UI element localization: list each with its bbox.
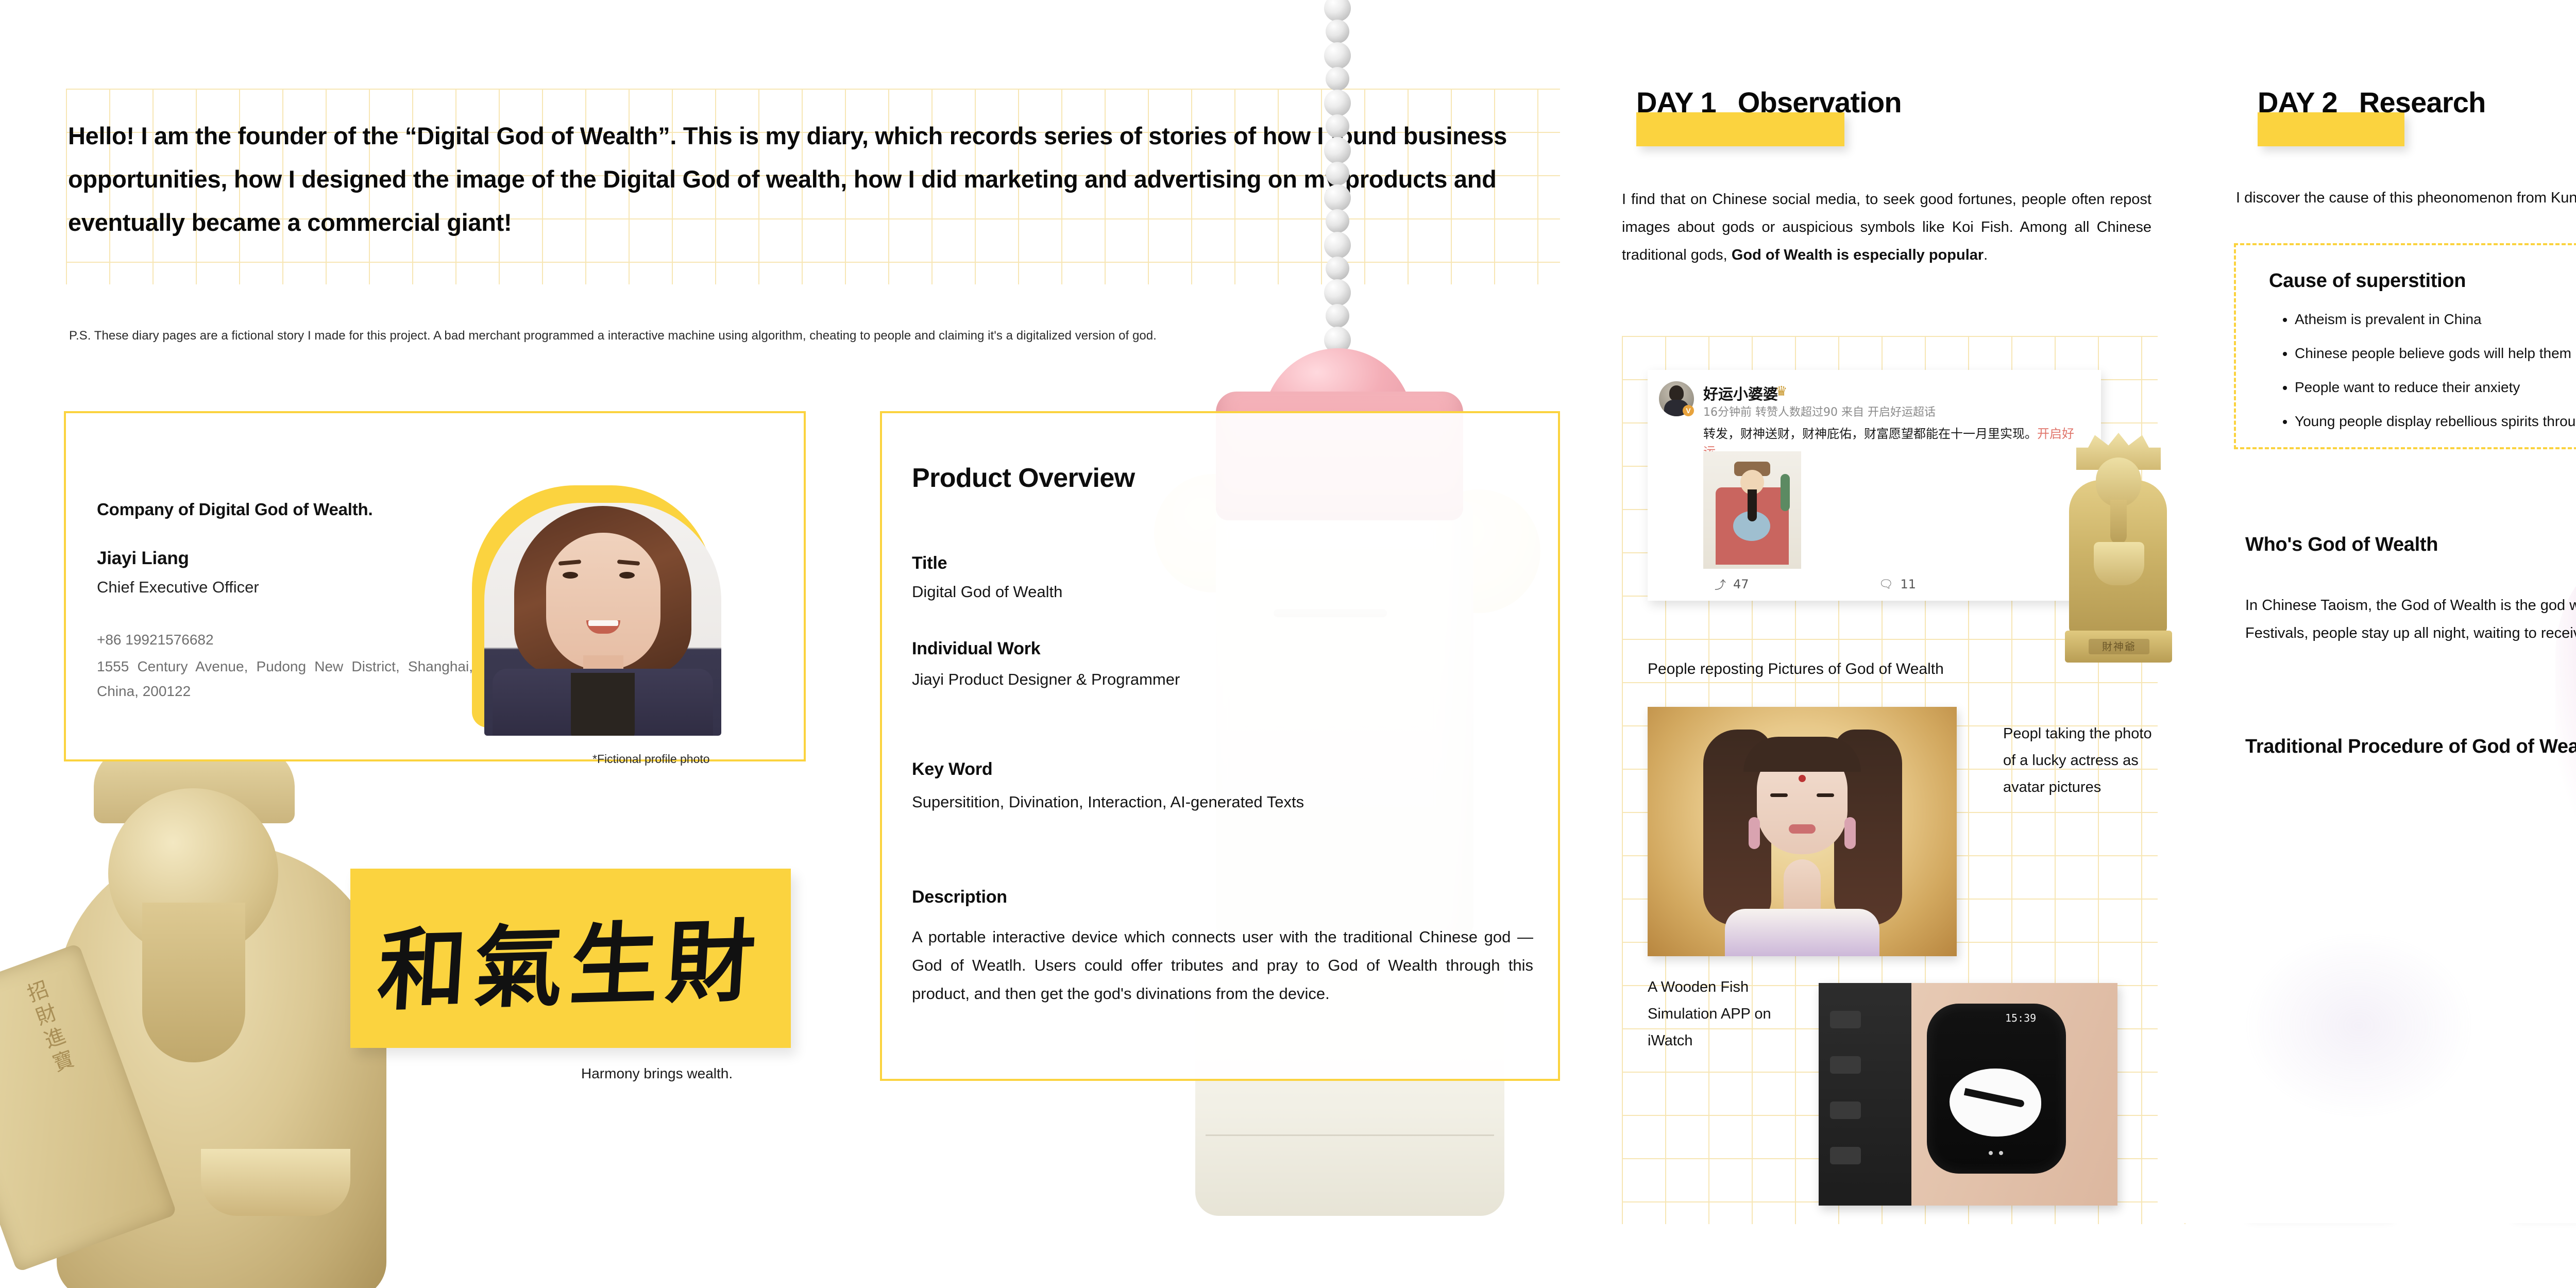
overview-description-label: Description bbox=[912, 887, 1533, 907]
wooden-fish-icon bbox=[1950, 1069, 2041, 1137]
day1-label: DAY 1 bbox=[1636, 86, 1716, 118]
overview-work-block: Individual Work Jiayi Product Designer &… bbox=[912, 639, 1180, 689]
product-overview-panel: Product Overview Title Digital God of We… bbox=[880, 411, 1560, 1081]
photo-praying-actress bbox=[1648, 707, 1957, 956]
bead-chain bbox=[1324, 0, 1351, 402]
calligraphy-caption: Harmony brings wealth. bbox=[581, 1065, 733, 1082]
overview-keyword-value: Supersitition, Divination, Interaction, … bbox=[912, 793, 1304, 811]
day2-label: DAY 2 bbox=[2258, 86, 2337, 118]
day2-intro-text: I discover the cause of this pheonomenon… bbox=[2236, 184, 2576, 211]
overview-keyword-label: Key Word bbox=[912, 759, 1304, 779]
brass-god-of-wealth-figurine: 財神爺 bbox=[2040, 412, 2195, 680]
list-item: People want to reduce their anxiety bbox=[2295, 378, 2576, 397]
avatar bbox=[484, 494, 732, 741]
repost-stat[interactable]: ⤴ 47 bbox=[1715, 576, 1749, 592]
comment-icon: 🗨 bbox=[1879, 578, 1893, 591]
list-item: Chinese people believe gods will help th… bbox=[2295, 344, 2576, 363]
list-item: Atheism is prevalent in China bbox=[2295, 310, 2576, 329]
phone-number: +86 19921576682 bbox=[97, 632, 214, 648]
post-username[interactable]: 好运小婆婆 bbox=[1703, 382, 1778, 404]
day1-heading: DAY 1Observation bbox=[1636, 86, 1902, 119]
who-section-title: Who's God of Wealth bbox=[2245, 534, 2438, 556]
overview-title-label: Title bbox=[912, 553, 1062, 573]
post-meta: 16分钟前 转赞人数超过90 来自 开启好运超话 bbox=[1703, 403, 1936, 419]
day1-intro-text: I find that on Chinese social media, to … bbox=[1622, 185, 2151, 269]
post-engagement-bar: ⤴ 47 🗨 11 bbox=[1715, 576, 2075, 592]
caption-reposting: People reposting Pictures of God of Weal… bbox=[1648, 660, 1944, 678]
procedure-section-title: Traditional Procedure of God of Wealth R… bbox=[2245, 736, 2576, 758]
watch-face: 15:39 bbox=[1927, 1004, 2066, 1174]
fictional-photo-note: *Fictional profile photo bbox=[592, 752, 710, 766]
day2-heading: DAY 2Research bbox=[2258, 86, 2486, 119]
repost-count: 47 bbox=[1733, 577, 1749, 591]
day1-section-title: Observation bbox=[1738, 86, 1902, 118]
who-section-text: In Chinese Taoism, the God of Wealth is … bbox=[2245, 591, 2576, 647]
company-name: Company of Digital God of Wealth. bbox=[97, 500, 372, 519]
overview-description-block: Description A portable interactive devic… bbox=[912, 887, 1533, 1008]
calligraphy-characters: 和氣生財 bbox=[345, 863, 797, 1054]
list-item: Young people display rebellious spirits … bbox=[2295, 412, 2576, 431]
photo-iwatch-wooden-fish: 15:39 bbox=[1819, 983, 2117, 1206]
cause-box-title: Cause of superstition bbox=[2269, 270, 2466, 292]
day1-intro-emphasis: God of Wealth is especially popular bbox=[1732, 247, 1984, 263]
day2-section-title: Research bbox=[2359, 86, 2486, 118]
product-base-seam bbox=[1206, 1134, 1494, 1136]
crown-icon: ♛ bbox=[1775, 383, 1787, 399]
person-name: Jiayi Liang bbox=[97, 548, 189, 569]
post-image[interactable] bbox=[1703, 451, 1801, 569]
verified-badge-icon: V bbox=[1683, 405, 1694, 416]
social-post-card[interactable]: V 好运小婆婆 ♛ 16分钟前 转赞人数超过90 来自 开启好运超话 转发，财神… bbox=[1648, 370, 2101, 601]
overview-title-value: Digital God of Wealth bbox=[912, 583, 1062, 601]
overview-panel-title: Product Overview bbox=[912, 463, 1135, 494]
calligraphy-banner: 和氣生財 bbox=[350, 869, 791, 1048]
overview-keyword-block: Key Word Supersitition, Divination, Inte… bbox=[912, 759, 1304, 811]
diary-page: Hello! I am the founder of the “Digital … bbox=[0, 0, 2576, 1288]
avatar-photo bbox=[484, 503, 721, 736]
overview-work-label: Individual Work bbox=[912, 639, 1180, 659]
cause-list: Atheism is prevalent in China Chinese pe… bbox=[2295, 310, 2576, 446]
overview-description-value: A portable interactive device which conn… bbox=[912, 923, 1533, 1008]
person-role: Chief Executive Officer bbox=[97, 578, 259, 597]
figurine-plate-text: 財神爺 bbox=[2089, 639, 2149, 654]
watch-time: 15:39 bbox=[2005, 1012, 2036, 1024]
comment-stat[interactable]: 🗨 11 bbox=[1879, 577, 1916, 591]
comment-count: 11 bbox=[1901, 577, 1917, 591]
day1-intro-part-c: . bbox=[1984, 247, 1988, 263]
overview-work-value: Jiayi Product Designer & Programmer bbox=[912, 670, 1180, 689]
postal-address: 1555 Century Avenue, Pudong New District… bbox=[97, 654, 473, 704]
overview-title-block: Title Digital God of Wealth bbox=[912, 553, 1062, 601]
caption-wooden-fish-app: A Wooden Fish Simulation APP on iWatch bbox=[1648, 974, 1812, 1054]
repost-icon: ⤴ bbox=[1715, 576, 1726, 592]
caption-actress-avatar: Peopl taking the photo of a lucky actres… bbox=[2003, 720, 2158, 801]
post-body-text: 转发，财神送财，财神庇佑，财富愿望都能在十一月里实现。 bbox=[1703, 427, 2037, 441]
cause-of-superstition-box: Cause of superstition Atheism is prevale… bbox=[2234, 243, 2576, 449]
